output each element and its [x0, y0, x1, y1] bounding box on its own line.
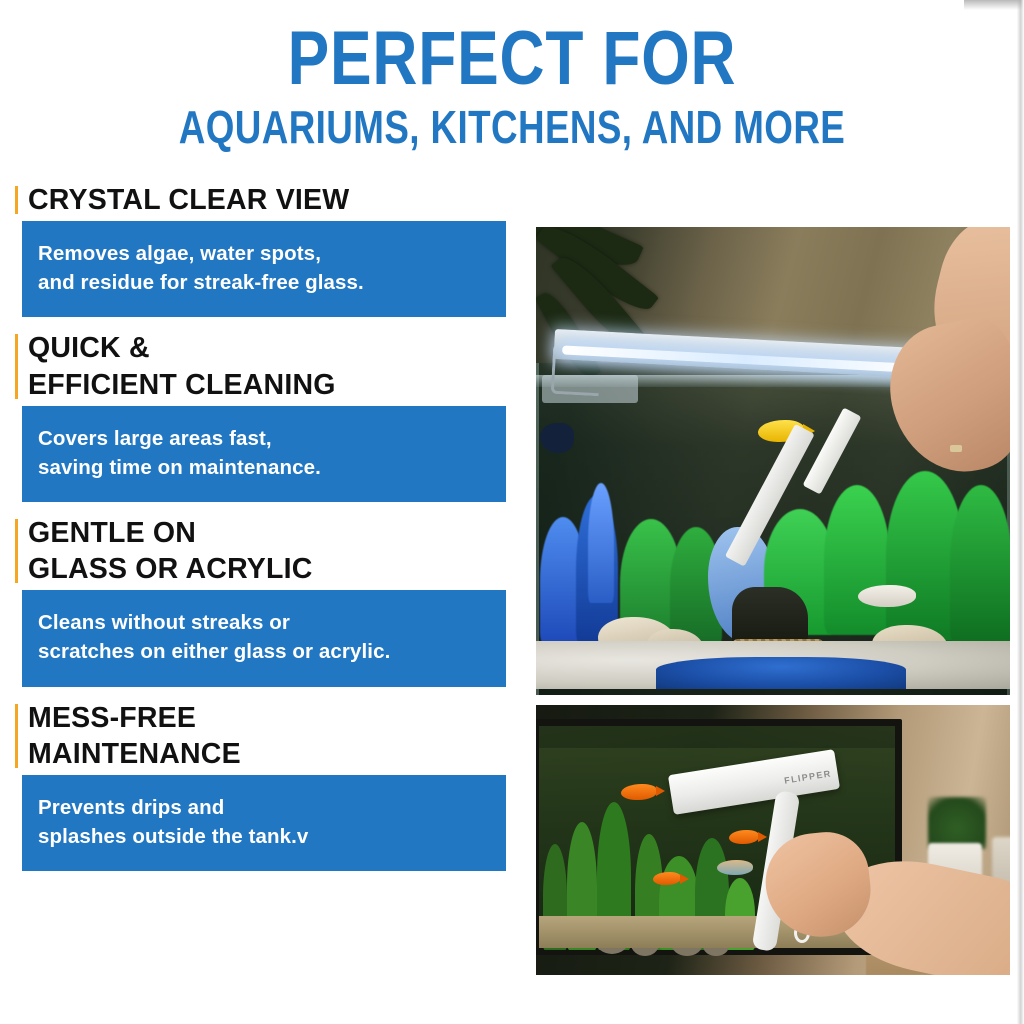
- headline-secondary: AQUARIUMS, KITCHENS, AND MORE: [102, 104, 921, 150]
- accent-bar-icon: [15, 334, 18, 398]
- frame-shadow-right: [1012, 0, 1024, 1024]
- feature-item-mess-free-maintenance: MESS-FREE MAINTENANCE Prevents drips and…: [0, 700, 530, 872]
- feature-item-quick-efficient-cleaning: QUICK & EFFICIENT CLEANING Covers large …: [0, 330, 530, 502]
- feature-item-crystal-clear-view: CRYSTAL CLEAR VIEW Removes algae, water …: [0, 182, 530, 317]
- feature-description-box: Covers large areas fast, saving time on …: [22, 406, 506, 502]
- accent-bar-icon: [15, 519, 18, 583]
- aquarium-plant-blue: [588, 483, 614, 603]
- product-infographic: PERFECT FOR AQUARIUMS, KITCHENS, AND MOR…: [0, 0, 1024, 1024]
- feature-heading-wrap: CRYSTAL CLEAR VIEW: [0, 182, 530, 221]
- frame-shadow-top: [964, 0, 1024, 10]
- finger-ring: [950, 445, 962, 452]
- feature-description-box: Removes algae, water spots, and residue …: [22, 221, 506, 317]
- tetra-fish: [717, 860, 753, 875]
- feature-item-gentle-on-glass-or-acrylic: GENTLE ON GLASS OR ACRYLIC Cleans withou…: [0, 515, 530, 687]
- feature-title: QUICK & EFFICIENT CLEANING: [28, 330, 524, 402]
- feature-description-box: Cleans without streaks or scratches on e…: [22, 590, 506, 686]
- feature-description: Prevents drips and splashes outside the …: [38, 793, 506, 851]
- feature-description-box: Prevents drips and splashes outside the …: [22, 775, 506, 871]
- feature-heading-wrap: GENTLE ON GLASS OR ACRYLIC: [0, 515, 530, 590]
- feature-heading-wrap: MESS-FREE MAINTENANCE: [0, 700, 530, 775]
- feature-title: CRYSTAL CLEAR VIEW: [28, 182, 524, 218]
- headline-primary: PERFECT FOR: [92, 24, 932, 94]
- fish-white: [858, 585, 916, 607]
- feature-description: Covers large areas fast, saving time on …: [38, 424, 506, 482]
- aquarium-plant-green: [950, 485, 1010, 645]
- fish-dark: [540, 423, 574, 453]
- accent-bar-icon: [15, 186, 18, 214]
- product-photo-top: FLIPPER: [536, 227, 1010, 695]
- feature-title: GENTLE ON GLASS OR ACRYLIC: [28, 515, 524, 587]
- aquarium-plant-green: [824, 485, 890, 635]
- feature-description: Cleans without streaks or scratches on e…: [38, 608, 506, 666]
- feature-heading-wrap: QUICK & EFFICIENT CLEANING: [0, 330, 530, 405]
- feature-list: CRYSTAL CLEAR VIEW Removes algae, water …: [0, 182, 530, 884]
- accent-bar-icon: [15, 704, 18, 768]
- houseplant-leaves-icon: [928, 797, 986, 849]
- headline-block: PERFECT FOR AQUARIUMS, KITCHENS, AND MOR…: [0, 24, 1024, 150]
- feature-description: Removes algae, water spots, and residue …: [38, 239, 506, 297]
- aquarium-substrate-blue: [656, 657, 906, 689]
- product-photo-bottom: FLIPPER: [536, 705, 1010, 975]
- feature-title: MESS-FREE MAINTENANCE: [28, 700, 524, 772]
